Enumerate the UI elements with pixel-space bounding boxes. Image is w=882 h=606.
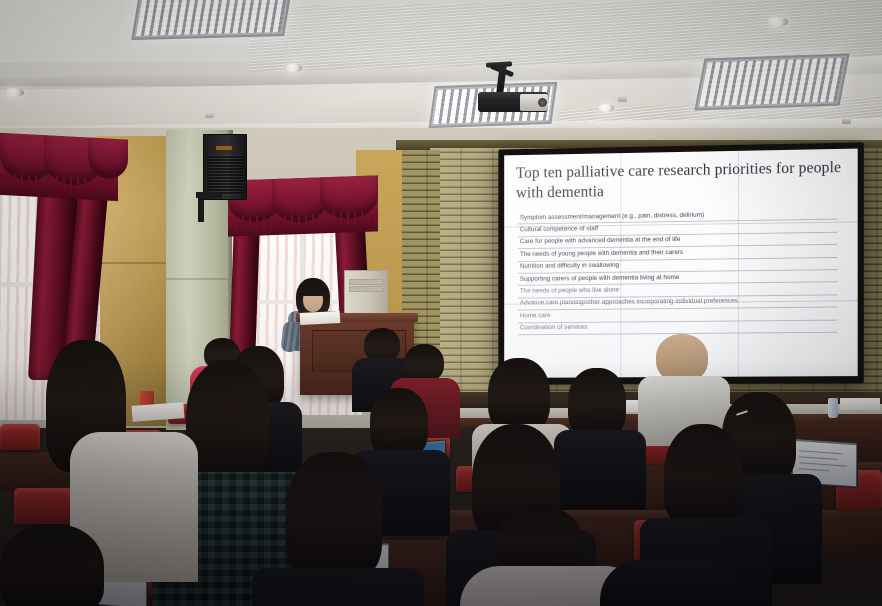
person-torso	[600, 560, 750, 606]
person-head	[568, 368, 626, 438]
ceiling-mounted-projector	[478, 82, 548, 112]
person-head	[186, 360, 270, 482]
wall-seam	[96, 262, 174, 264]
person-head	[664, 424, 742, 528]
ceiling-sensor-icon	[205, 112, 214, 118]
conference-room-photo: Top ten palliative care research priorit…	[0, 0, 882, 606]
ceiling-sensor-icon	[618, 96, 627, 102]
slide-title: Top ten palliative care research priorit…	[516, 158, 846, 203]
fluorescent-light-fixture	[131, 0, 292, 40]
pillar-seam	[166, 278, 232, 280]
list-item: Coordination of services	[518, 320, 837, 335]
person-head	[0, 524, 104, 606]
burgundy-valance	[0, 133, 118, 201]
presenter-fringe	[301, 285, 325, 296]
seat-back	[0, 424, 40, 450]
recessed-downlight-icon	[285, 64, 302, 72]
person-torso	[252, 568, 424, 606]
person-head	[488, 358, 550, 432]
recessed-downlight-icon	[4, 88, 24, 97]
person-torso	[554, 430, 646, 510]
slide-priority-list: Symptom assessment/management (e.g., pai…	[518, 208, 837, 336]
speaker-badge	[216, 146, 232, 150]
person-head	[370, 388, 428, 458]
speaker-mount-bracket	[196, 192, 224, 224]
projector-lens-icon	[538, 98, 547, 107]
person-head	[286, 452, 382, 580]
recessed-downlight-icon	[767, 17, 788, 27]
person-head	[656, 334, 708, 382]
lectern-papers	[300, 311, 341, 325]
recessed-downlight-icon	[598, 104, 614, 112]
wall-mounted-loudspeaker	[203, 134, 247, 200]
papers-on-desk	[840, 398, 880, 410]
burgundy-valance	[228, 175, 378, 236]
person-head	[364, 328, 400, 362]
ceiling-sensor-icon	[842, 118, 851, 124]
paper-cup	[828, 398, 838, 418]
speaker-grille	[207, 155, 243, 195]
fluorescent-light-fixture	[694, 54, 849, 111]
person-head	[404, 344, 444, 382]
